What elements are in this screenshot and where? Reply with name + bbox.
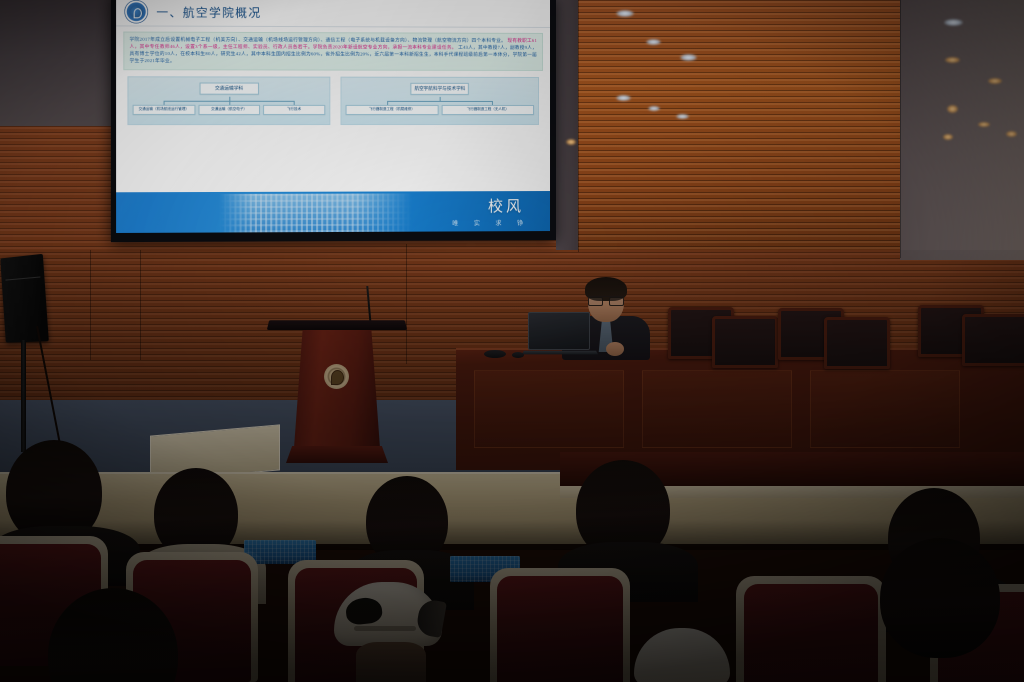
diagram-root-node: 交通运输学科 [199, 82, 258, 94]
stage-chair[interactable] [712, 316, 778, 368]
wall-panel-gray-left [556, 0, 578, 250]
ceiling-light-icon [945, 57, 960, 63]
table-panel [642, 370, 792, 448]
laptop-screen [528, 312, 590, 350]
diagram-leaf-node: 飞行器制造工程（机载维修） [345, 105, 438, 115]
slide-paragraph-block: 学院2017年成立后设置机械电子工程（机美方向）、交通运输（机场线场运行管理方向… [123, 32, 543, 71]
cap-strap [354, 626, 416, 631]
table-object [512, 352, 524, 358]
auditorium-seat[interactable] [490, 568, 630, 682]
wall-seam-right [900, 0, 901, 258]
presenter-hand [606, 342, 624, 356]
wall-seam-far-left-2 [140, 250, 141, 360]
pa-loudspeaker-on-stand [2, 256, 54, 466]
diagram-leaf-node: 飞行技术 [263, 105, 325, 115]
pa-speaker-cabinet [0, 254, 49, 343]
podium-top-surface [267, 320, 407, 330]
diagram-aerospace: 航空宇航科学与技术学科 飞行器制造工程（机载维修） 飞行器制造工程（无人机） [340, 77, 539, 125]
campus-building-illustration [219, 193, 412, 232]
table-object [484, 350, 506, 358]
diagram-leaf-node: 飞行器制造工程（无人机） [441, 105, 534, 115]
pale-cap [634, 628, 730, 682]
ceiling-light-icon [680, 54, 697, 61]
ceiling-light-icon [947, 105, 958, 113]
lectern-podium[interactable] [286, 318, 388, 466]
diagram-leaf-row: 交通运输（机场航班运行管理） 交通运输（航空电子） 飞行技术 [133, 105, 325, 115]
diagram-connector [345, 97, 534, 105]
ceiling-light-icon [944, 19, 963, 26]
wall-panel-gray-right [900, 0, 1024, 260]
wall-seam-left [578, 0, 579, 252]
stage-chair[interactable] [824, 317, 890, 369]
ceiling-light-icon [648, 106, 660, 111]
diagram-connector [133, 96, 325, 104]
slide-diagram-row: 交通运输学科 交通运输（机场航班运行管理） 交通运输（航空电子） 飞行技术 [123, 76, 543, 125]
ceiling-light-icon [943, 134, 953, 140]
auditorium-photo-scene: 一、航空学院概况 学院2017年成立后设置机械电子工程（机美方向）、交通运输（机… [0, 0, 1024, 682]
footer-motto-large: 校风 [488, 195, 524, 216]
ceiling-light-icon [988, 78, 1002, 84]
table-panel [810, 370, 960, 448]
diagram-leaf-node: 交通运输（航空电子） [198, 105, 260, 115]
stage-chair[interactable] [962, 314, 1024, 366]
slide-title: 一、航空学院概况 [156, 4, 261, 21]
slide-header: 一、航空学院概况 [116, 0, 550, 28]
ceiling-light-icon [1006, 131, 1017, 137]
footer-motto-small: 唯 实 求 铮 [452, 218, 530, 227]
seat-cushion [497, 576, 623, 682]
diagram-leaf-node: 交通运输（机场航班运行管理） [133, 105, 195, 115]
audience-head [880, 538, 1000, 658]
auditorium-seat[interactable] [736, 576, 886, 682]
presentation-slide: 一、航空学院概况 学院2017年成立后设置机械电子工程（机美方向）、交通运输（机… [116, 0, 550, 233]
speaker-tripod-pole [21, 340, 26, 452]
wall-seam-far-left [90, 250, 91, 360]
wood-panel-upper-center [578, 0, 900, 250]
audience-neck [356, 642, 426, 682]
ceiling-light-icon [646, 39, 661, 45]
podium-base [286, 446, 388, 463]
slide-footer-banner: 校风 唯 实 求 铮 [116, 191, 550, 233]
university-crest-emblem [324, 364, 349, 389]
diagram-transportation: 交通运输学科 交通运输（机场航班运行管理） 交通运输（航空电子） 飞行技术 [127, 76, 329, 125]
ceiling-light-icon [616, 95, 631, 101]
university-crest-logo [124, 0, 148, 23]
ceiling-light-icon [978, 122, 990, 127]
presenter-laptop[interactable] [528, 312, 590, 356]
seat-cushion [744, 584, 878, 682]
projection-screen[interactable]: 一、航空学院概况 学院2017年成立后设置机械电子工程（机美方向）、交通运输（机… [111, 0, 556, 242]
table-panel [474, 370, 624, 448]
diagram-root-node: 航空宇航科学与技术学科 [411, 83, 469, 95]
ceiling-light-icon [616, 10, 634, 17]
cap-logo-patch [345, 596, 384, 626]
podium-body [294, 330, 380, 448]
slide-paragraph-lead: 学院2017年成立后设置机械电子工程（机美方向）、交通运输（机场线场运行管理方向… [130, 37, 506, 43]
ceiling-light-icon [676, 114, 689, 119]
wall-seam-center [406, 244, 407, 364]
ceiling-light-icon [566, 139, 576, 145]
eyeglasses-icon [588, 296, 624, 303]
diagram-leaf-row: 飞行器制造工程（机载维修） 飞行器制造工程（无人机） [345, 105, 534, 115]
laptop-keyboard [522, 351, 598, 355]
